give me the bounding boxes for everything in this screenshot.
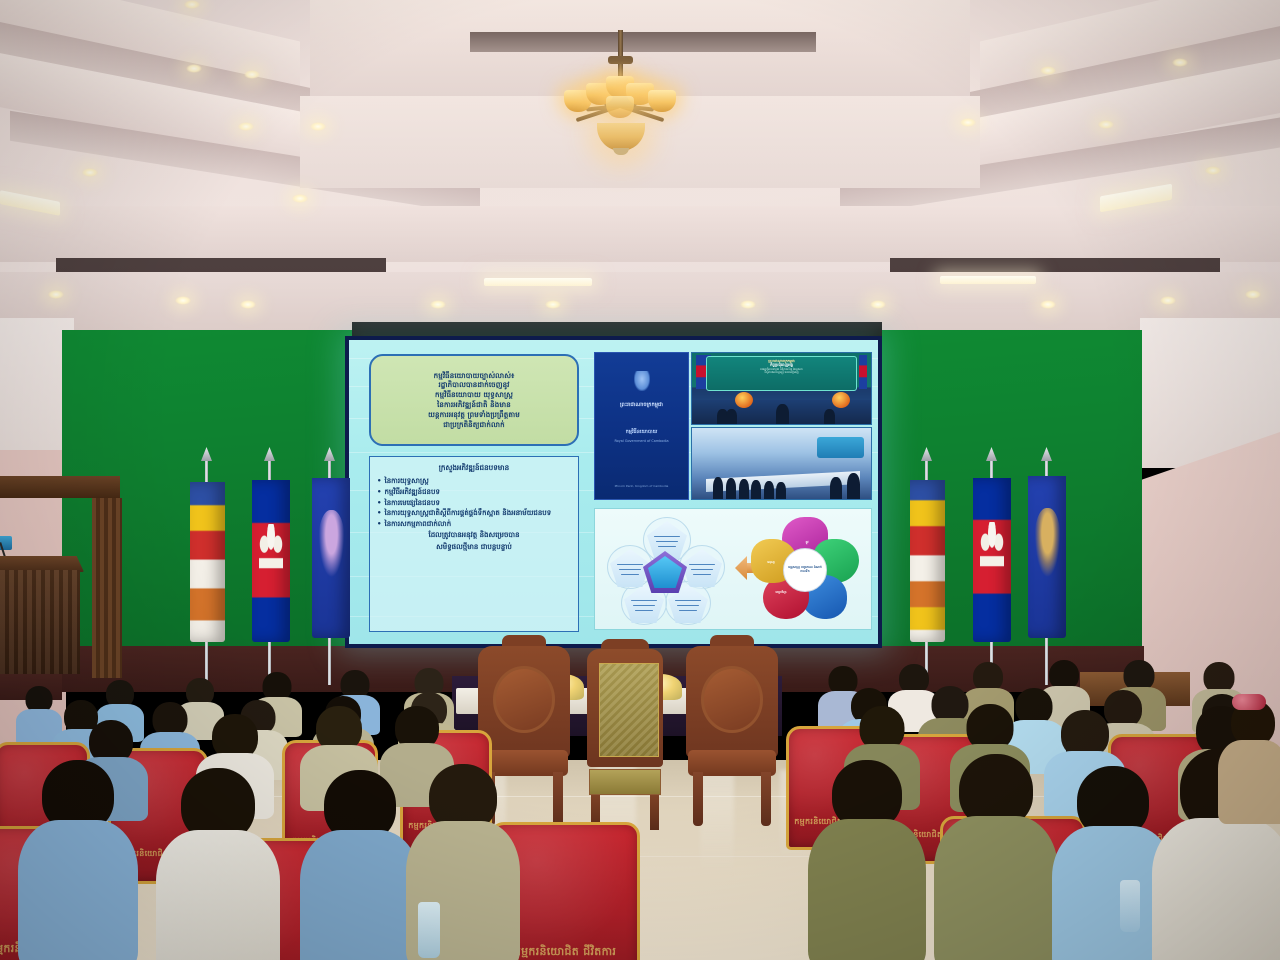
downlight-icon (1205, 166, 1221, 175)
seated-person (824, 409, 835, 424)
projection-screen[interactable]: កម្មវិធីនយោបាយច្បាស់លាស់៖ រដ្ឋាភិបាលបានដ… (345, 336, 882, 648)
attendee (18, 760, 138, 960)
downlight-icon (175, 296, 191, 305)
institutional-emblem-icon (1034, 508, 1061, 580)
torso (18, 820, 138, 960)
flower-core-label: យុទ្ធសាស្ត្រ បញ្ចកោណ ដំណាក់កាលទី១ (784, 566, 826, 573)
downlight-icon (292, 194, 308, 203)
chandelier-shade-icon (648, 90, 676, 112)
list-item-label: នៃការសកម្មភាពជាក់លាក់ (384, 520, 451, 529)
conference-hall-scene: កម្មវិធីនយោបាយច្បាស់លាស់៖ រដ្ឋាភិបាលបានដ… (0, 0, 1280, 960)
green-line: ជាប្រក្រតិនិត្យជាក់លាក់ (428, 420, 520, 430)
pentagon-lines (689, 558, 715, 561)
downlight-icon (1172, 58, 1188, 67)
podium-body (0, 570, 80, 674)
petal-label: បច្ចេកវិទ្យា (769, 591, 793, 594)
downlight-icon (186, 64, 202, 73)
list-item: • នៃការសកម្មភាពជាក់លាក់ (377, 520, 571, 529)
wood-shelf (0, 476, 120, 498)
list-item-label: នៃការយុទ្ធសាស្ត្រ (384, 477, 428, 486)
downlight-icon (1160, 296, 1176, 305)
list-item: • កម្មវិធីអភិវឌ្ឍន៍ជនបទ (377, 488, 571, 497)
slide-photo-row: ព្រះរាជាណាចក្រកម្ពុជា កម្មវិធីនយោបាយ Roy… (594, 352, 872, 500)
list-item: • នៃការមេផ្សេនៃជនបទ (377, 499, 571, 508)
chair-medallion (493, 666, 556, 733)
angkor-wat-emblem-icon (980, 522, 1004, 578)
pentagon-lines (675, 594, 701, 597)
downlight-icon (240, 300, 256, 309)
list-heading: ក្រសួងអភិវឌ្ឍន៍ជនបទមាន (377, 463, 571, 474)
torso (1218, 740, 1280, 824)
green-line: កម្មវិធីនយោបាយ យុទ្ធសាស្ត្រ (428, 390, 520, 400)
downlight-icon (1040, 66, 1056, 75)
list-item: • នៃការយុទ្ធសាស្ត្រ (377, 477, 571, 486)
flag-icon (859, 355, 867, 389)
throne-lower-panel (589, 769, 661, 795)
bullet-icon: • (377, 520, 381, 529)
royal-crest-icon (634, 371, 650, 391)
throne-chair-center[interactable] (583, 645, 667, 830)
arrow-head-left (735, 556, 747, 580)
light-panel (940, 276, 1036, 284)
photo-stack: ព្រះរាជាណាចក្រកម្ពុជា កិច្ចប្រជុំពេញអង្គ… (691, 352, 872, 500)
pentagon-lines (617, 558, 643, 561)
torso (808, 819, 926, 960)
light-panel (484, 278, 592, 286)
pentagon-strategy-cluster (605, 519, 725, 621)
water-bottle (418, 902, 440, 958)
downlight-icon (82, 168, 98, 177)
torso (300, 830, 420, 960)
list-item-label: នៃការយុទ្ធសាស្ត្រជាតិស្តីពីការផ្គត់ផ្គង់… (384, 509, 551, 518)
institutional-emblem-icon (318, 510, 345, 580)
torso (156, 830, 280, 960)
slide-diagram: ផ្លូវ មនុស្ស បច្ចេកវិទ្យា យុទ្ធសាស្ត្រ ប… (594, 508, 872, 630)
downlight-icon (184, 0, 200, 9)
buddhist-flag (910, 480, 945, 642)
chair-label: កម្មករនិយោជិត ជីវិតការ (502, 945, 629, 960)
bullet-icon: • (377, 488, 381, 497)
poster-title: ព្រះរាជាណាចក្រកម្ពុជា (595, 401, 688, 409)
chair-medallion (701, 666, 764, 733)
chair-leg (761, 772, 770, 826)
poster-footer: Phnom Penh, Kingdom of Cambodia (599, 485, 684, 489)
poster-subtitle: កម្មវិធីនយោបាយ (595, 429, 688, 436)
attendee (1218, 700, 1280, 820)
green-line: រដ្ឋាភិបាលបានដាក់ចេញនូវ (428, 380, 520, 390)
seated-person (776, 482, 786, 499)
green-line: នៃការអភិវឌ្ឍន៍ជាតិ និងមាន (428, 400, 520, 410)
throne-leg (650, 795, 659, 830)
screen-header-band (352, 322, 882, 336)
attendee (300, 770, 420, 960)
plenary-meeting-photo: ព្រះរាជាណាចក្រកម្ពុជា កិច្ចប្រជុំពេញអង្គ… (691, 352, 872, 425)
bullet-icon: • (377, 509, 381, 518)
stage-banner: ព្រះរាជាណាចក្រកម្ពុជា កិច្ចប្រជុំពេញអង្គ… (706, 356, 856, 392)
torso (934, 816, 1058, 960)
attendee (934, 754, 1058, 960)
hair-clip-icon (1232, 694, 1266, 710)
list-item-label: កម្មវិធីអភិវឌ្ឍន៍ជនបទ (384, 488, 439, 497)
throne-brocade-panel (599, 663, 659, 757)
seated-person (713, 477, 723, 499)
flower-arrangement (832, 392, 850, 408)
chair-back (686, 646, 778, 758)
slide-green-text: កម្មវិធីនយោបាយច្បាស់លាស់៖ រដ្ឋាភិបាលបានដ… (428, 371, 520, 430)
petal-label: ផ្លូវ (795, 541, 819, 544)
wood-column (92, 498, 122, 678)
chandelier-bowl (597, 123, 645, 151)
list-footer-line: សមិទ្ធផលថ្មីមាន ជាបន្តបន្ទាប់ (377, 543, 571, 552)
poster-line3: Royal Government of Cambodia (599, 439, 684, 443)
seated-person (751, 480, 761, 499)
buddhist-flag (190, 482, 225, 642)
water-bottle (1120, 880, 1140, 932)
chandelier-canopy (608, 56, 633, 64)
downlight-icon (1040, 300, 1056, 309)
petal-label: មនុស្ស (759, 561, 783, 564)
chair-leg (553, 772, 562, 826)
downlight-icon (545, 300, 561, 309)
conference-room-photo (691, 427, 872, 500)
chandelier (560, 30, 680, 175)
bullet-icon: • (377, 499, 381, 508)
seated-person (764, 481, 774, 499)
display-panel (817, 437, 864, 458)
attendee (808, 760, 926, 960)
downlight-icon (1098, 120, 1114, 129)
downlight-icon (238, 122, 254, 131)
flower-core: យុទ្ធសាស្ត្រ បញ្ចកោណ ដំណាក់កាលទី១ (783, 548, 827, 592)
seated-person (847, 473, 860, 499)
chair-leg (693, 772, 702, 826)
downlight-icon (1245, 290, 1261, 299)
ceiling (0, 0, 1280, 330)
pentagon-lines (654, 530, 680, 533)
downlight-icon (430, 300, 446, 309)
carved-wooden-podium[interactable] (0, 556, 84, 674)
ceiling-band-lower (0, 206, 1280, 262)
throne-back (587, 649, 663, 767)
downlight-icon (960, 118, 976, 127)
downlight-icon (48, 290, 64, 299)
list-item: • នៃការយុទ្ធសាស្ត្រជាតិស្តីពីការផ្គត់ផ្គ… (377, 509, 571, 518)
downlight-icon (310, 122, 326, 131)
list-item-label: នៃការមេផ្សេនៃជនបទ (384, 499, 439, 508)
green-line: យន្តការអនុវត្ត ព្រមទាំងប្រព្រឹត្តតាម (428, 410, 520, 420)
cover-poster: ព្រះរាជាណាចក្រកម្ពុជា កម្មវិធីនយោបាយ Roy… (594, 352, 689, 500)
pentagon-center-inner (648, 556, 682, 588)
torso (1152, 818, 1280, 960)
banner-line4: ទីស្តីការគណៈរដ្ឋមន្ត្រី រាជធានីភ្នំពេញ (711, 371, 851, 375)
slide-canvas: កម្មវិធីនយោបាយច្បាស់លាស់៖ រដ្ឋាភិបាលបានដ… (349, 340, 878, 644)
five-petal-flower-diagram: ផ្លូវ មនុស្ស បច្ចេកវិទ្យា យុទ្ធសាស្ត្រ ប… (751, 517, 859, 623)
angkor-wat-emblem-icon (259, 524, 283, 580)
chandelier-finial (613, 148, 629, 155)
downlight-icon (244, 70, 260, 79)
seated-person (830, 477, 842, 499)
seated-person (776, 404, 789, 424)
chandelier-shade-icon (606, 96, 634, 118)
attendee (156, 768, 280, 960)
pentagon-lines (631, 594, 657, 597)
bullet-icon: • (377, 477, 381, 486)
slide-green-textbox: កម្មវិធីនយោបាយច្បាស់លាស់៖ រដ្ឋាភិបាលបានដ… (369, 354, 579, 446)
seated-person (726, 478, 736, 499)
list-footer-line: ដែលត្រូវបានអនុវត្ត និងសម្រេចបាន (377, 531, 571, 540)
green-line: កម្មវិធីនយោបាយច្បាស់លាស់៖ (428, 371, 520, 381)
seated-person (726, 409, 737, 424)
downlight-icon (740, 300, 756, 309)
seated-person (739, 479, 749, 499)
downlight-icon (870, 300, 886, 309)
slide-bullet-listbox: ក្រសួងអភិវឌ្ឍន៍ជនបទមាន • នៃការយុទ្ធសាស្ត… (369, 456, 579, 632)
ornate-chair-right[interactable] (686, 646, 778, 826)
